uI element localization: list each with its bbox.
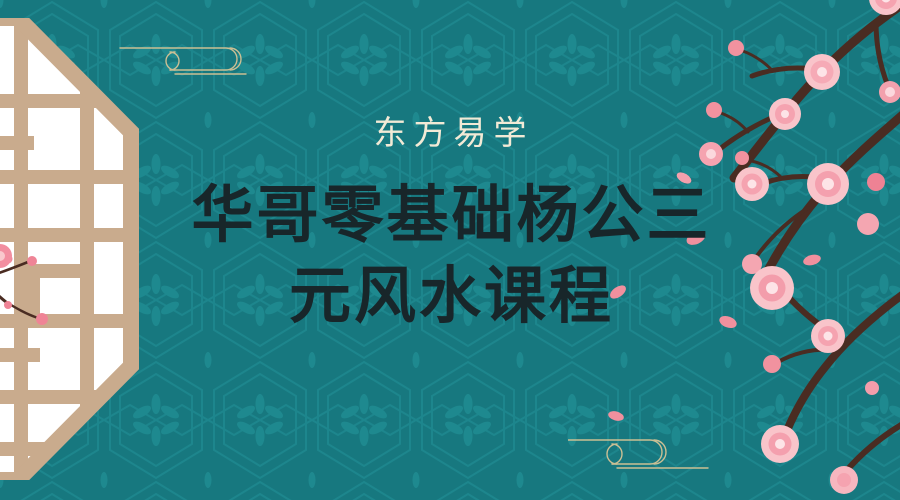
lattice-window-decoration [0,18,147,480]
poster-canvas: 东方易学 华哥零基础杨公三 元风水课程 [0,0,900,500]
plum-blossom-branch-right-icon [576,0,900,500]
